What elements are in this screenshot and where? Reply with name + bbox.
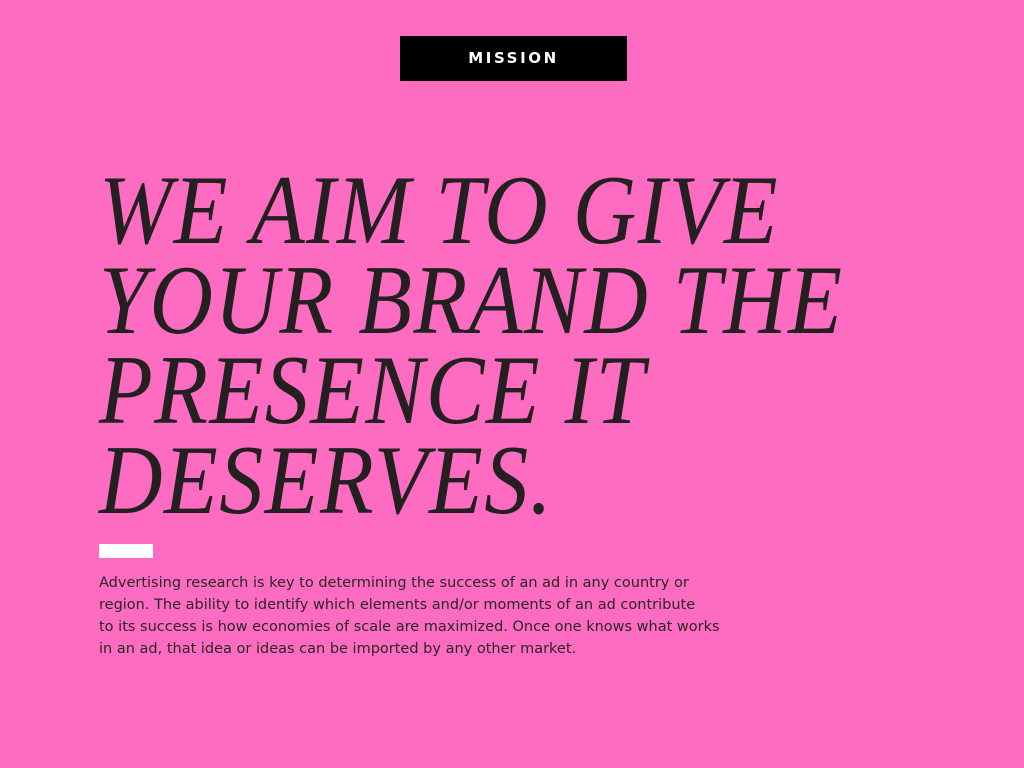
mission-slide: MISSION WE AIM TO GIVE YOUR BRAND THE PR… (0, 0, 1024, 768)
body-paragraph: Advertising research is key to determini… (99, 572, 799, 660)
accent-divider-bar (99, 544, 153, 558)
section-badge-label: MISSION (468, 51, 559, 66)
headline: WE AIM TO GIVE YOUR BRAND THE PRESENCE I… (99, 172, 959, 532)
body-line-2: region. The ability to identify which el… (99, 594, 799, 616)
body-line-4: in an ad, that idea or ideas can be impo… (99, 638, 799, 660)
body-line-1: Advertising research is key to determini… (99, 572, 799, 594)
body-line-3: to its success is how economies of scale… (99, 616, 799, 638)
headline-line-4: DESERVES. (99, 431, 959, 532)
section-badge: MISSION (400, 36, 627, 81)
